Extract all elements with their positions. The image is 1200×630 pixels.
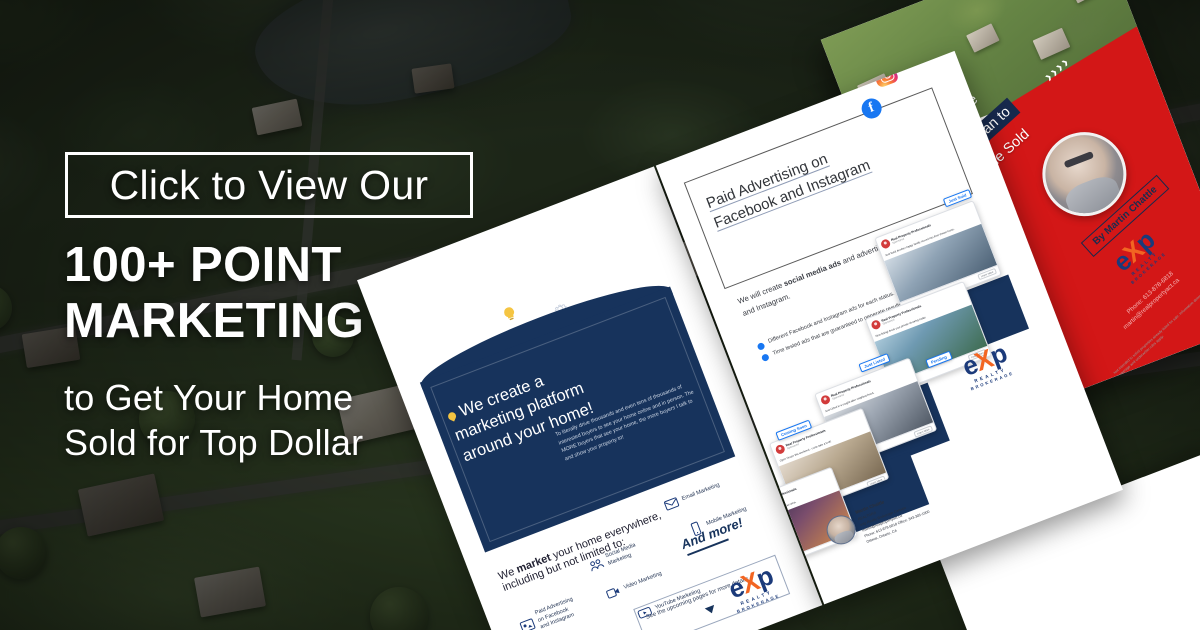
social-media-icon [587, 555, 606, 574]
channel-label: Video Marketing [623, 571, 663, 592]
bullet-dot-icon [761, 353, 770, 362]
brochure-stack[interactable]: ›››› The Complete Marketing Plan to Get … [0, 0, 1200, 630]
bullet-dot-icon [756, 341, 765, 350]
lightbulb-icon [499, 303, 521, 325]
channel-label: Paid Advertising on Facebook and Instagr… [534, 596, 580, 630]
chevron-arrows-icon: ›››› [1041, 53, 1075, 86]
promo-banner[interactable]: Click to View Our 100+ POINT MARKETING P… [0, 0, 1200, 630]
page-avatar [880, 238, 892, 250]
down-triangle-icon [705, 605, 717, 615]
video-icon [604, 583, 623, 602]
page-avatar [820, 394, 832, 406]
location-pin-icon [447, 411, 458, 422]
facebook-ads-icon [518, 616, 537, 630]
page-avatar [774, 444, 786, 456]
channel-paid-advertising: Paid Advertising on Facebook and Instagr… [516, 596, 579, 630]
page-avatar [870, 319, 882, 331]
channel-video: Video Marketing [604, 567, 665, 602]
